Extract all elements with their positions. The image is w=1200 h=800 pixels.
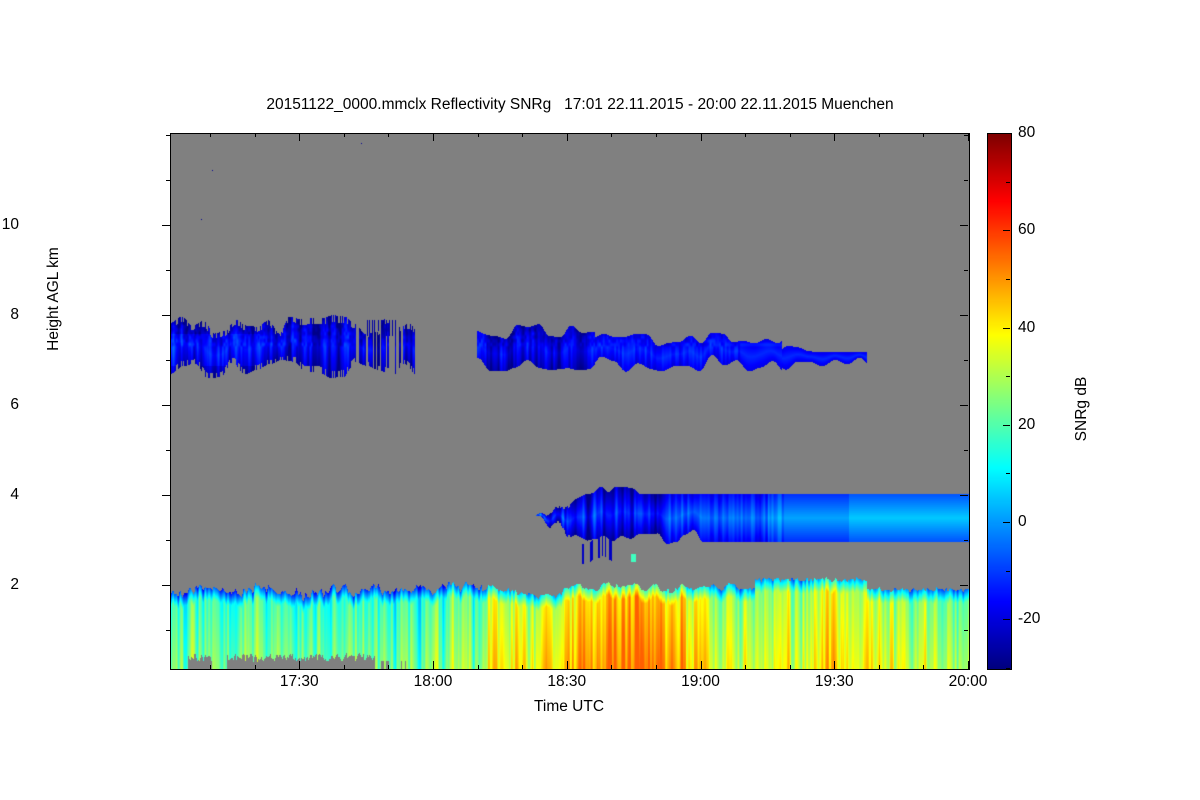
x-tick-minor [255, 665, 256, 669]
x-tick-mark-top [433, 133, 434, 141]
colorbar-tick-mark [1003, 522, 1010, 523]
x-tick-mark [433, 661, 434, 669]
x-tick-minor-top [344, 133, 345, 137]
colorbar-tick-minor [1006, 182, 1010, 183]
colorbar-tick-label: 40 [1018, 319, 1035, 337]
y-tick-mark [162, 405, 170, 406]
y-axis-label: Height AGL km [45, 189, 63, 409]
y-tick-minor [166, 630, 170, 631]
x-tick-minor-top [611, 133, 612, 137]
x-tick-minor-top [255, 133, 256, 137]
x-tick-mark [968, 661, 969, 669]
x-tick-minor-top [790, 133, 791, 137]
y-tick-minor-right [964, 270, 968, 271]
x-tick-mark-top [299, 133, 300, 141]
x-tick-minor [344, 665, 345, 669]
x-tick-label: 18:00 [388, 673, 478, 691]
y-tick-mark-right [960, 585, 968, 586]
y-tick-minor [166, 540, 170, 541]
colorbar-tick-label: 60 [1018, 221, 1035, 239]
x-tick-label: 19:30 [789, 673, 879, 691]
x-tick-minor-top [656, 133, 657, 137]
x-tick-minor [478, 665, 479, 669]
x-axis-label: Time UTC [170, 698, 968, 716]
colorbar-gradient [988, 134, 1011, 669]
colorbar-tick-minor [1006, 279, 1010, 280]
x-tick-minor [522, 665, 523, 669]
y-tick-label: 6 [0, 396, 19, 414]
x-tick-mark-top [968, 133, 969, 141]
y-tick-minor [166, 450, 170, 451]
y-tick-label: 2 [0, 576, 19, 594]
x-tick-mark [299, 661, 300, 669]
colorbar-tick-mark [1003, 230, 1010, 231]
heatmap-image [171, 134, 969, 669]
y-tick-mark-right [960, 225, 968, 226]
x-tick-mark [567, 661, 568, 669]
x-tick-label: 20:00 [923, 673, 1013, 691]
x-tick-label: 18:30 [522, 673, 612, 691]
x-tick-label: 19:00 [656, 673, 746, 691]
y-tick-minor [166, 270, 170, 271]
y-tick-mark [162, 495, 170, 496]
x-tick-minor-top [923, 133, 924, 137]
y-tick-label: 4 [0, 486, 19, 504]
x-tick-mark [834, 661, 835, 669]
x-tick-minor [656, 665, 657, 669]
colorbar-tick-minor [1006, 668, 1010, 669]
y-tick-minor-right [964, 360, 968, 361]
y-tick-label: 10 [0, 216, 19, 234]
x-tick-minor-top [388, 133, 389, 137]
y-tick-minor [166, 180, 170, 181]
x-tick-mark-top [567, 133, 568, 141]
x-tick-label: 17:30 [254, 673, 344, 691]
x-tick-minor-top [210, 133, 211, 137]
y-tick-minor [166, 135, 170, 136]
x-tick-minor-top [745, 133, 746, 137]
colorbar-tick-label: 20 [1018, 416, 1035, 434]
y-tick-mark [162, 315, 170, 316]
x-tick-minor-top [478, 133, 479, 137]
colorbar-tick-mark [1003, 328, 1010, 329]
plot-axes [170, 133, 970, 670]
y-tick-mark [162, 585, 170, 586]
y-tick-minor-right [964, 540, 968, 541]
colorbar [987, 133, 1012, 670]
y-tick-mark-right [960, 315, 968, 316]
y-tick-minor-right [964, 180, 968, 181]
x-tick-mark-top [834, 133, 835, 141]
x-tick-minor [388, 665, 389, 669]
page-title: 20151122_0000.mmclx Reflectivity SNRg 17… [0, 96, 1160, 114]
y-tick-mark [162, 225, 170, 226]
figure-canvas: 20151122_0000.mmclx Reflectivity SNRg 17… [0, 0, 1200, 800]
colorbar-tick-label: -20 [1018, 610, 1040, 628]
colorbar-tick-minor [1006, 473, 1010, 474]
y-tick-minor-right [964, 450, 968, 451]
y-tick-minor-right [964, 630, 968, 631]
x-tick-minor [210, 665, 211, 669]
y-tick-label: 8 [0, 306, 19, 324]
y-tick-mark-right [960, 405, 968, 406]
y-tick-minor [166, 360, 170, 361]
x-tick-minor-top [879, 133, 880, 137]
colorbar-tick-label: 80 [1018, 124, 1035, 142]
x-tick-mark [701, 661, 702, 669]
colorbar-tick-mark [1003, 133, 1010, 134]
x-tick-minor [879, 665, 880, 669]
x-tick-minor [745, 665, 746, 669]
colorbar-tick-minor [1006, 571, 1010, 572]
colorbar-tick-mark [1003, 425, 1010, 426]
colorbar-tick-minor [1006, 376, 1010, 377]
x-tick-minor [611, 665, 612, 669]
x-tick-mark-top [701, 133, 702, 141]
x-tick-minor-top [522, 133, 523, 137]
colorbar-tick-label: 0 [1018, 513, 1027, 531]
x-tick-minor [790, 665, 791, 669]
x-tick-minor [923, 665, 924, 669]
colorbar-label: SNRg dB [1073, 319, 1091, 499]
colorbar-tick-mark [1003, 619, 1010, 620]
y-tick-mark-right [960, 495, 968, 496]
